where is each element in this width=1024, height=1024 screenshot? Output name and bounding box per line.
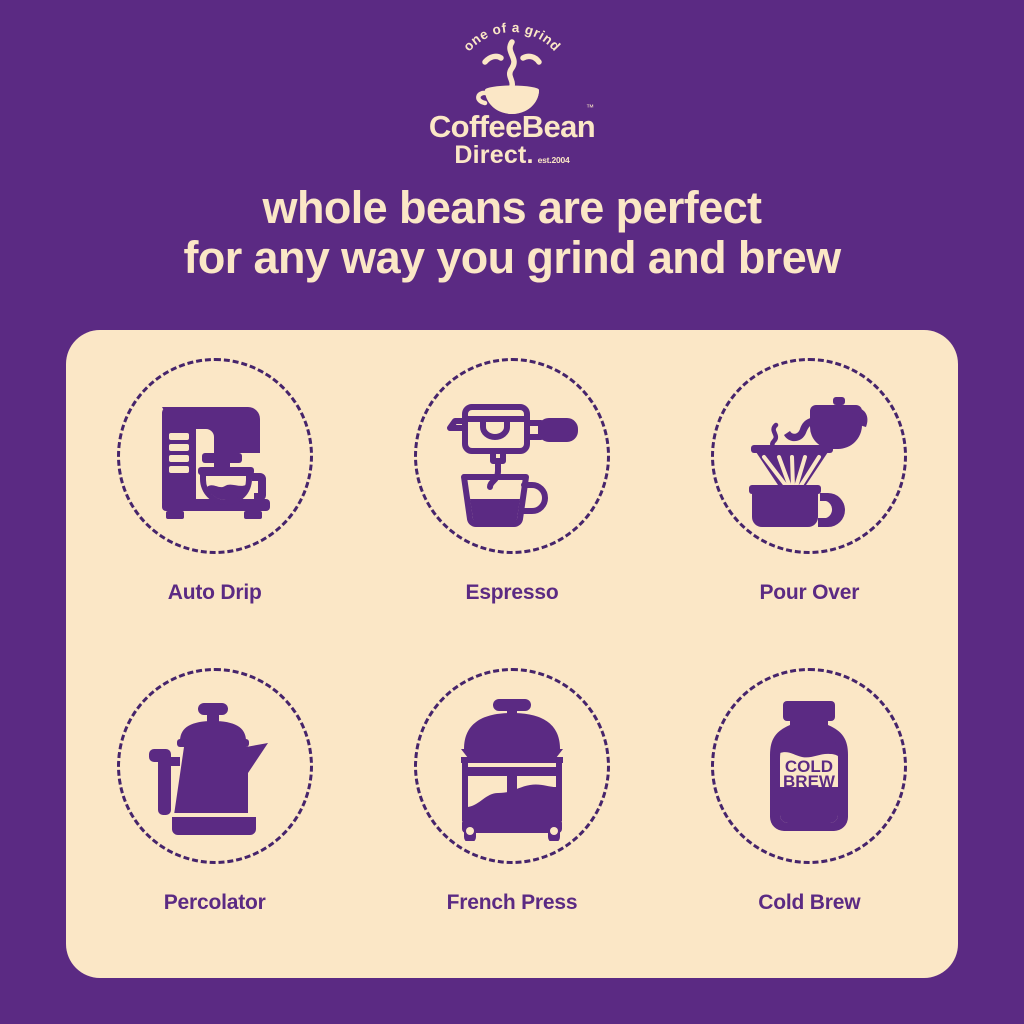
headline-line-2: for any way you grind and brew	[0, 233, 1024, 283]
french-press-icon	[414, 668, 610, 864]
espresso-portafilter-cup-icon	[414, 358, 610, 554]
brew-method-tile-auto-drip[interactable]: Auto Drip	[66, 358, 363, 668]
page-headline: whole beans are perfect for any way you …	[0, 183, 1024, 284]
brew-method-tile-pour-over[interactable]: Pour Over	[661, 358, 958, 668]
brew-method-label: Cold Brew	[758, 891, 860, 915]
brew-method-label: Pour Over	[759, 581, 859, 605]
brew-method-label: Percolator	[164, 891, 266, 915]
auto-drip-coffee-maker-icon	[117, 358, 313, 554]
established-text: est.2004	[538, 156, 570, 169]
cold-brew-bottle-icon: COLD BREW	[711, 668, 907, 864]
brand-name-line2: Direct.	[454, 143, 533, 168]
brew-method-tile-espresso[interactable]: Espresso	[363, 358, 660, 668]
percolator-pot-icon	[117, 668, 313, 864]
brew-method-label: Auto Drip	[168, 581, 262, 605]
brand-name-line1: CoffeeBean	[412, 112, 612, 142]
pour-over-kettle-dripper-mug-icon	[711, 358, 907, 554]
brew-method-tile-cold-brew[interactable]: COLD BREW Cold Brew	[661, 668, 958, 978]
brew-method-label: French Press	[447, 891, 578, 915]
brew-method-tile-percolator[interactable]: Percolator	[66, 668, 363, 978]
brew-method-tile-french-press[interactable]: French Press	[363, 668, 660, 978]
bottle-label-line2: BREW	[783, 772, 836, 791]
headline-line-1: whole beans are perfect	[0, 183, 1024, 233]
brand-logo: one of a grind ™ CoffeeBean Direct. est.…	[0, 8, 1024, 168]
coffee-cup-steam-logo-icon: one of a grind	[417, 8, 607, 116]
trademark-symbol: ™	[586, 103, 594, 112]
brew-methods-card: Auto Drip	[66, 330, 958, 978]
brew-methods-grid: Auto Drip	[66, 358, 958, 978]
brew-method-label: Espresso	[466, 581, 559, 605]
